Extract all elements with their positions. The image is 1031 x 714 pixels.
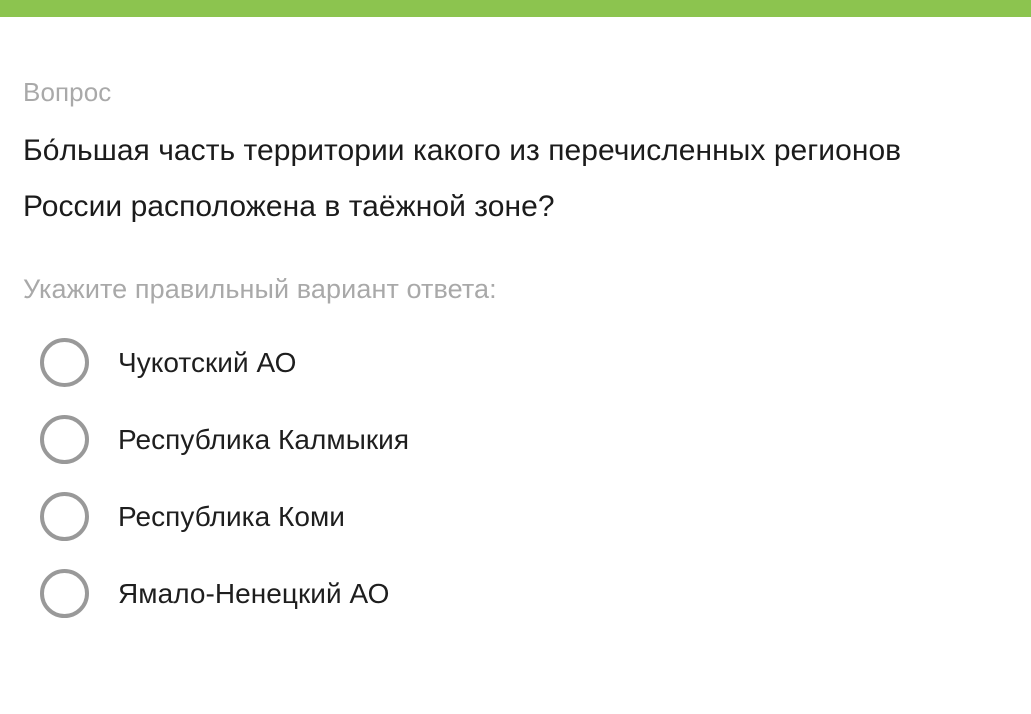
section-label-question: Вопрос	[23, 75, 1003, 109]
question-text: Бо́льшая часть территории какого из пере…	[23, 123, 983, 235]
top-accent-bar	[0, 0, 1031, 17]
radio-unchecked-icon[interactable]	[40, 492, 89, 541]
answer-option-4[interactable]: Ямало-Ненецкий АО	[40, 555, 980, 632]
answer-prompt: Укажите правильный вариант ответа:	[23, 271, 497, 307]
answer-option-label: Республика Калмыкия	[118, 423, 409, 457]
radio-unchecked-icon[interactable]	[40, 569, 89, 618]
answer-option-label: Чукотский АО	[118, 346, 296, 380]
question-card: Вопрос Бо́льшая часть территории какого …	[0, 17, 1031, 714]
answer-option-2[interactable]: Республика Калмыкия	[40, 401, 980, 478]
answer-option-1[interactable]: Чукотский АО	[40, 324, 980, 401]
radio-unchecked-icon[interactable]	[40, 338, 89, 387]
radio-unchecked-icon[interactable]	[40, 415, 89, 464]
answer-option-3[interactable]: Республика Коми	[40, 478, 980, 555]
question-block: Вопрос Бо́льшая часть территории какого …	[23, 75, 1003, 235]
answer-option-label: Ямало-Ненецкий АО	[118, 577, 389, 611]
answer-option-label: Республика Коми	[118, 500, 345, 534]
answer-options-list: Чукотский АО Республика Калмыкия Республ…	[40, 324, 980, 632]
